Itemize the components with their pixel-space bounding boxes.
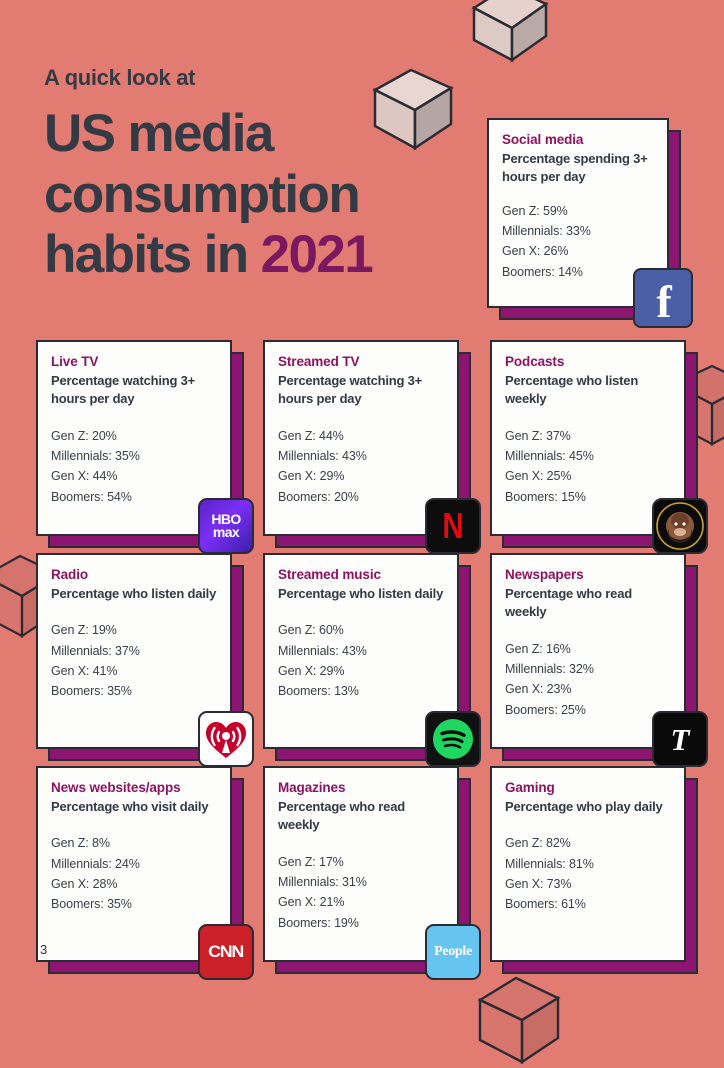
people-magazine-logo-icon[interactable]: People	[425, 924, 481, 980]
new-york-times-logo-icon[interactable]: T	[652, 711, 708, 767]
stat-gen-z: Gen Z: 44%	[278, 426, 444, 446]
stat-gen-z: Gen Z: 17%	[278, 852, 444, 872]
stat-millennials: Millennials: 31%	[278, 872, 444, 892]
stat-gen-x: Gen X: 73%	[505, 874, 671, 894]
card-title: Magazines	[278, 780, 444, 797]
stat-gen-z: Gen Z: 37%	[505, 426, 671, 446]
card-subtitle: Percentage who visit daily	[51, 798, 217, 816]
card-stats: Gen Z: 82% Millennials: 81% Gen X: 73% B…	[505, 833, 671, 914]
stat-boomers: Boomers: 13%	[278, 681, 444, 701]
card-streamed-tv[interactable]: Streamed TV Percentage watching 3+ hours…	[263, 340, 459, 536]
stat-gen-x: Gen X: 29%	[278, 661, 444, 681]
card-title: Streamed TV	[278, 354, 444, 371]
stat-gen-x: Gen X: 23%	[505, 679, 671, 699]
netflix-logo-icon[interactable]: N	[425, 498, 481, 554]
joe-rogan-experience-logo-icon[interactable]	[652, 498, 708, 554]
stat-millennials: Millennials: 37%	[51, 641, 217, 661]
stat-gen-z: Gen Z: 8%	[51, 833, 217, 853]
stat-gen-x: Gen X: 28%	[51, 874, 217, 894]
card-title: Newspapers	[505, 567, 671, 584]
media-card-grid: Live TV Percentage watching 3+ hours per…	[36, 340, 688, 962]
card-title: News websites/apps	[51, 780, 217, 797]
spotify-logo-icon[interactable]	[425, 711, 481, 767]
facebook-logo-icon[interactable]: f	[633, 268, 693, 328]
decorative-cube-bottom	[474, 972, 566, 1068]
card-title: Social media	[502, 132, 654, 149]
headline-line-3: habits in	[44, 225, 261, 284]
stat-gen-x: Gen X: 26%	[502, 241, 654, 261]
card-title: Podcasts	[505, 354, 671, 371]
stat-gen-x: Gen X: 44%	[51, 466, 217, 486]
card-stats: Gen Z: 17% Millennials: 31% Gen X: 21% B…	[278, 852, 444, 933]
stat-gen-x: Gen X: 21%	[278, 892, 444, 912]
stat-boomers: Boomers: 15%	[505, 487, 671, 507]
card-stats: Gen Z: 37% Millennials: 45% Gen X: 25% B…	[505, 426, 671, 507]
stat-boomers: Boomers: 20%	[278, 487, 444, 507]
stat-boomers: Boomers: 61%	[505, 894, 671, 914]
card-stats: Gen Z: 44% Millennials: 43% Gen X: 29% B…	[278, 426, 444, 507]
stat-millennials: Millennials: 24%	[51, 854, 217, 874]
stat-boomers: Boomers: 35%	[51, 894, 217, 914]
card-stats: Gen Z: 8% Millennials: 24% Gen X: 28% Bo…	[51, 833, 217, 914]
stat-boomers: Boomers: 25%	[505, 700, 671, 720]
stat-boomers: Boomers: 35%	[51, 681, 217, 701]
card-subtitle: Percentage watching 3+ hours per day	[278, 372, 444, 409]
card-body: Gaming Percentage who play daily Gen Z: …	[490, 766, 686, 962]
facebook-glyph: f	[656, 284, 671, 321]
stat-gen-z: Gen Z: 60%	[278, 620, 444, 640]
hbo-max-line-2: max	[213, 524, 239, 540]
hbo-max-logo-icon[interactable]: HBO max	[198, 498, 254, 554]
card-subtitle: Percentage spending 3+ hours per day	[502, 150, 654, 187]
people-glyph: People	[434, 944, 472, 960]
card-magazines[interactable]: Magazines Percentage who read weekly Gen…	[263, 766, 459, 962]
stat-gen-z: Gen Z: 19%	[51, 620, 217, 640]
hbo-max-glyph: HBO max	[211, 513, 240, 539]
card-subtitle: Percentage who listen weekly	[505, 372, 671, 409]
card-newspapers[interactable]: Newspapers Percentage who read weekly Ge…	[490, 553, 686, 749]
page-header: A quick look at US media consumption hab…	[44, 66, 464, 285]
card-subtitle: Percentage who read weekly	[505, 585, 671, 622]
card-subtitle: Percentage who listen daily	[51, 585, 217, 603]
card-subtitle: Percentage watching 3+ hours per day	[51, 372, 217, 409]
decorative-cube-top	[466, 0, 552, 62]
stat-gen-z: Gen Z: 59%	[502, 201, 654, 221]
stat-millennials: Millennials: 33%	[502, 221, 654, 241]
stat-millennials: Millennials: 43%	[278, 446, 444, 466]
cnn-logo-icon[interactable]: CNN	[198, 924, 254, 980]
page-title: US media consumption habits in 2021	[44, 104, 464, 285]
card-subtitle: Percentage who play daily	[505, 798, 671, 816]
stat-millennials: Millennials: 43%	[278, 641, 444, 661]
card-streamed-music[interactable]: Streamed music Percentage who listen dai…	[263, 553, 459, 749]
stat-boomers: Boomers: 19%	[278, 913, 444, 933]
card-gaming[interactable]: Gaming Percentage who play daily Gen Z: …	[490, 766, 686, 962]
nyt-glyph: T	[671, 724, 690, 755]
card-stats: Gen Z: 60% Millennials: 43% Gen X: 29% B…	[278, 620, 444, 701]
stat-boomers: Boomers: 14%	[502, 262, 654, 282]
card-stats: Gen Z: 16% Millennials: 32% Gen X: 23% B…	[505, 639, 671, 720]
stat-millennials: Millennials: 32%	[505, 659, 671, 679]
card-title: Live TV	[51, 354, 217, 371]
stat-gen-z: Gen Z: 82%	[505, 833, 671, 853]
stat-millennials: Millennials: 81%	[505, 854, 671, 874]
headline-year: 2021	[261, 225, 373, 284]
stat-gen-x: Gen X: 41%	[51, 661, 217, 681]
card-stats: Gen Z: 19% Millennials: 37% Gen X: 41% B…	[51, 620, 217, 701]
stat-gen-z: Gen Z: 16%	[505, 639, 671, 659]
card-stats: Gen Z: 20% Millennials: 35% Gen X: 44% B…	[51, 426, 217, 507]
card-podcasts[interactable]: Podcasts Percentage who listen weekly Ge…	[490, 340, 686, 536]
card-subtitle: Percentage who listen daily	[278, 585, 444, 603]
card-subtitle: Percentage who read weekly	[278, 798, 444, 835]
stat-gen-x: Gen X: 29%	[278, 466, 444, 486]
card-stats: Gen Z: 59% Millennials: 33% Gen X: 26% B…	[502, 201, 654, 282]
card-title: Gaming	[505, 780, 671, 797]
card-social-media[interactable]: Social media Percentage spending 3+ hour…	[487, 118, 669, 308]
netflix-glyph: N	[442, 508, 463, 544]
stat-millennials: Millennials: 45%	[505, 446, 671, 466]
iheartradio-logo-icon[interactable]	[198, 711, 254, 767]
card-radio[interactable]: Radio Percentage who listen daily Gen Z:…	[36, 553, 232, 749]
headline-line-1: US media	[44, 104, 273, 163]
headline-line-2: consumption	[44, 165, 359, 224]
card-title: Radio	[51, 567, 217, 584]
card-title: Streamed music	[278, 567, 444, 584]
card-live-tv[interactable]: Live TV Percentage watching 3+ hours per…	[36, 340, 232, 536]
stat-millennials: Millennials: 35%	[51, 446, 217, 466]
stat-gen-z: Gen Z: 20%	[51, 426, 217, 446]
cnn-glyph: CNN	[209, 942, 244, 962]
stat-boomers: Boomers: 54%	[51, 487, 217, 507]
card-news-websites-apps[interactable]: News websites/apps Percentage who visit …	[36, 766, 232, 962]
stat-gen-x: Gen X: 25%	[505, 466, 671, 486]
page-number: 3	[40, 942, 47, 957]
kicker-text: A quick look at	[44, 66, 464, 90]
